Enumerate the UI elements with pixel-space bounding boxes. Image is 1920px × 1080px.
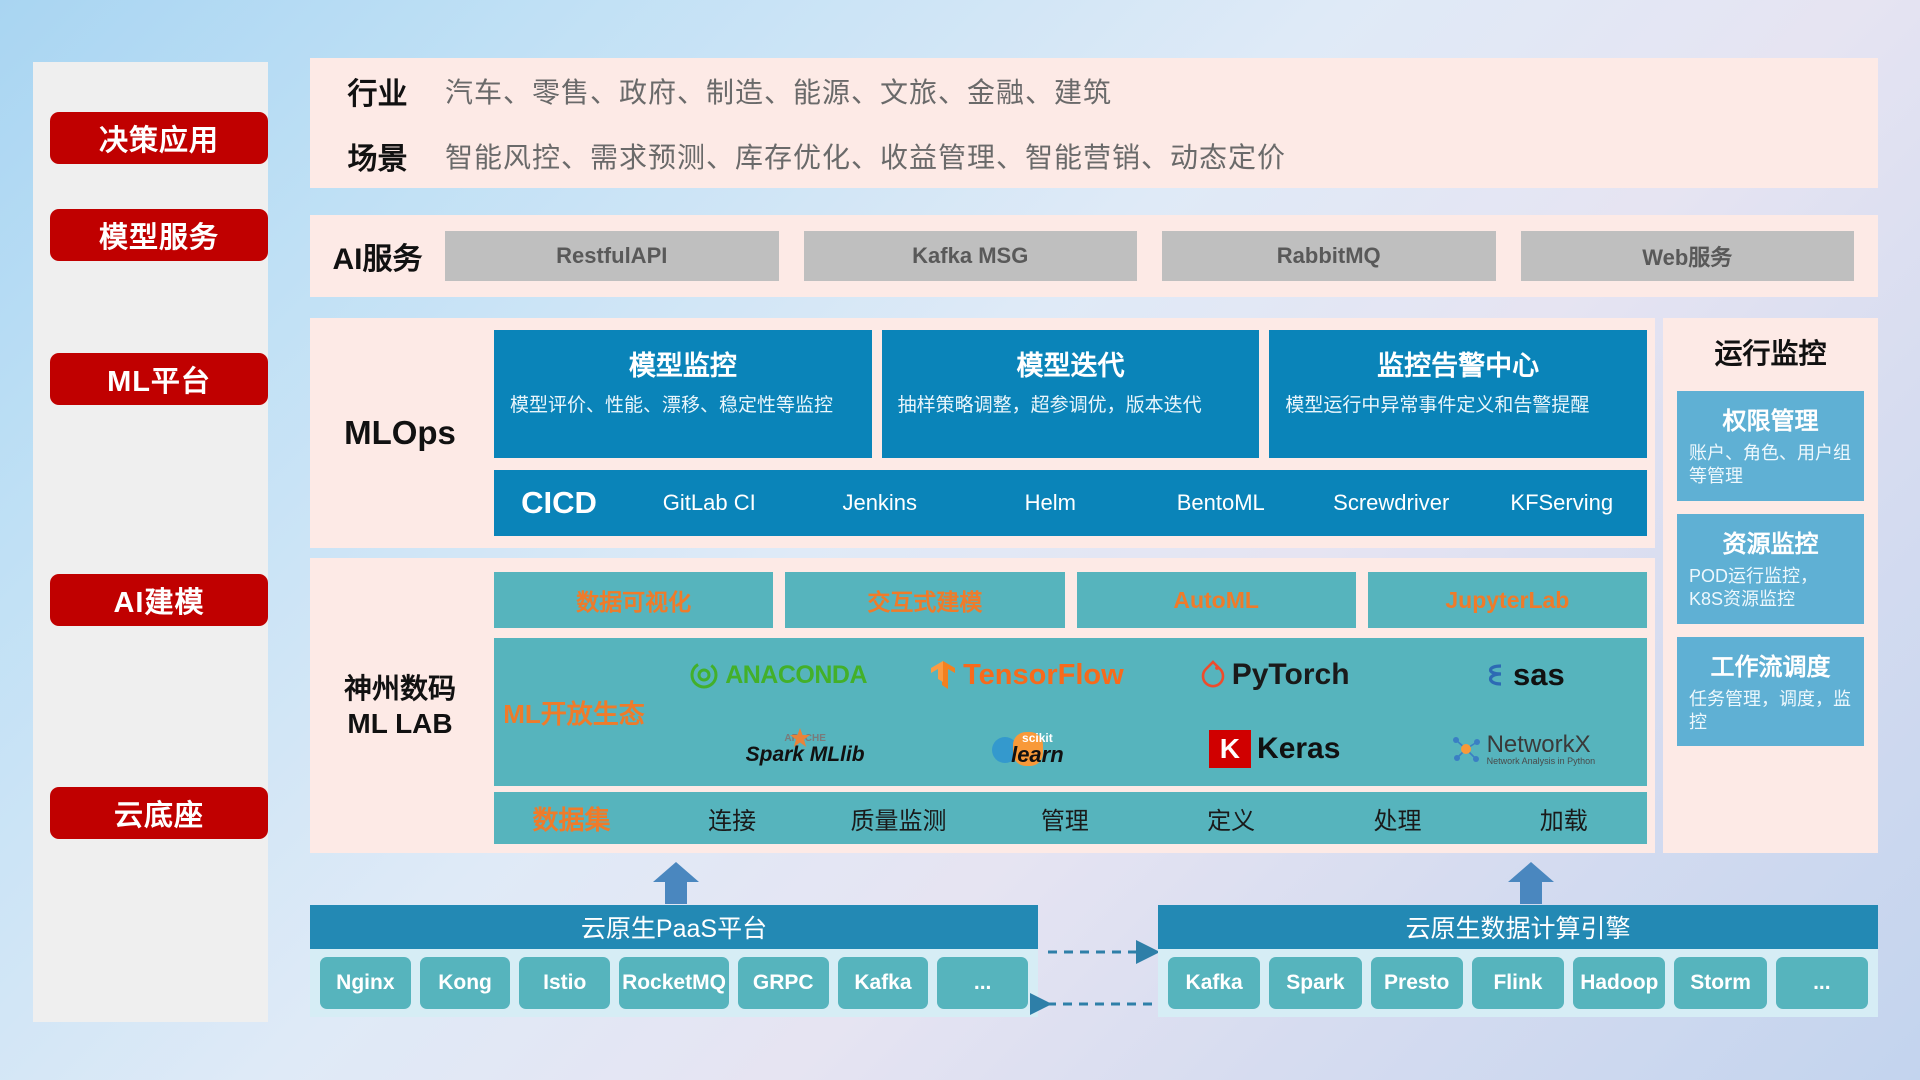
service-chip-restfulapi[interactable]: RestfulAPI — [445, 231, 779, 281]
spark-star-icon — [789, 727, 811, 749]
monitoring-card-permission[interactable]: 权限管理 账户、角色、用户组等管理 — [1677, 391, 1864, 501]
service-chip-rabbitmq[interactable]: RabbitMQ — [1162, 231, 1496, 281]
dataset-item-connect[interactable]: 连接 — [649, 801, 815, 836]
monitoring-card-workflow[interactable]: 工作流调度 任务管理，调度，监控 — [1677, 637, 1864, 747]
networkx-wordmark: NetworkX — [1487, 732, 1596, 757]
card-desc: POD运行监控，K8S资源监控 — [1689, 565, 1852, 612]
keras-mark-icon: K — [1209, 730, 1251, 768]
ai-service-chip-list: RestfulAPI Kafka MSG RabbitMQ Web服务 — [445, 231, 1878, 281]
card-title: 模型监控 — [510, 344, 856, 383]
card-desc: 任务管理，调度，监控 — [1689, 688, 1852, 735]
rail-item-decision-app[interactable]: 决策应用 — [50, 112, 268, 164]
dataset-title: 数据集 — [494, 800, 649, 837]
service-chip-web[interactable]: Web服务 — [1521, 231, 1855, 281]
sas-wordmark: sas — [1513, 657, 1565, 693]
up-arrow-paas-icon — [653, 862, 699, 904]
architecture-diagram: 决策应用 模型服务 ML平台 AI建模 云底座 行业 汽车、零售、政府、制造、能… — [0, 0, 1920, 1080]
card-title: 工作流调度 — [1689, 647, 1852, 682]
networkx-graph-icon — [1451, 734, 1481, 764]
ml-ecosystem-logo-grid: ANACONDA TensorFlow PyTorch — [654, 638, 1647, 786]
cicd-item-kfserving[interactable]: KFServing — [1477, 491, 1648, 514]
ml-lab-label-line2: ML LAB — [347, 706, 452, 741]
anaconda-wordmark: ANACONDA — [725, 661, 867, 690]
cicd-item-gitlab-ci[interactable]: GitLab CI — [624, 491, 795, 514]
runtime-monitoring-title: 运行监控 — [1663, 318, 1878, 378]
card-desc: 抽样策略调整，超参调优，版本迭代 — [898, 393, 1244, 419]
layer-rail: 决策应用 模型服务 ML平台 AI建模 云底座 — [33, 62, 268, 1022]
industry-scenario-panel: 行业 汽车、零售、政府、制造、能源、文旅、金融、建筑 场景 智能风控、需求预测、… — [310, 58, 1878, 188]
data-engine-chip-list: Kafka Spark Presto Flink Hadoop Storm ..… — [1158, 949, 1878, 1017]
service-chip-kafka-msg[interactable]: Kafka MSG — [804, 231, 1138, 281]
industry-values: 汽车、零售、政府、制造、能源、文旅、金融、建筑 — [445, 71, 1112, 111]
learn-label: learn — [1011, 744, 1064, 766]
ai-service-label: AI服务 — [310, 234, 445, 278]
paas-chip-istio[interactable]: Istio — [519, 957, 610, 1009]
pytorch-logo[interactable]: PyTorch — [1200, 658, 1350, 692]
card-title: 监控告警中心 — [1285, 344, 1631, 383]
ml-ecosystem-row: ML开放生态 ANACONDA TensorFlow — [494, 638, 1647, 786]
engine-chip-flink[interactable]: Flink — [1472, 957, 1564, 1009]
dataset-item-define[interactable]: 定义 — [1148, 801, 1314, 836]
card-desc: 账户、角色、用户组等管理 — [1689, 442, 1852, 489]
engine-chip-storm[interactable]: Storm — [1674, 957, 1766, 1009]
mlops-card-list: 模型监控 模型评价、性能、漂移、稳定性等监控 模型迭代 抽样策略调整，超参调优，… — [494, 330, 1647, 458]
paas-chip-kong[interactable]: Kong — [420, 957, 511, 1009]
monitoring-card-resource[interactable]: 资源监控 POD运行监控，K8S资源监控 — [1677, 514, 1864, 624]
networkx-tagline: Network Analysis in Python — [1487, 757, 1596, 766]
dataset-row: 数据集 连接 质量监测 管理 定义 处理 加载 — [494, 792, 1647, 844]
sas-logo[interactable]: sas — [1481, 657, 1565, 693]
bidirectional-connectors — [1030, 938, 1170, 1020]
engine-chip-more[interactable]: ... — [1776, 957, 1868, 1009]
cicd-item-bentoml[interactable]: BentoML — [1136, 491, 1307, 514]
tool-chip-jupyterlab[interactable]: JupyterLab — [1368, 572, 1647, 628]
keras-wordmark: Keras — [1257, 732, 1340, 766]
engine-chip-kafka[interactable]: Kafka — [1168, 957, 1260, 1009]
cicd-item-helm[interactable]: Helm — [965, 491, 1136, 514]
scenario-label: 场景 — [310, 134, 445, 178]
mlops-card-model-monitoring[interactable]: 模型监控 模型评价、性能、漂移、稳定性等监控 — [494, 330, 872, 458]
tool-chip-automl[interactable]: AutoML — [1077, 572, 1356, 628]
ai-modeling-panel: 神州数码 ML LAB 数据可视化 交互式建模 AutoML JupyterLa… — [310, 558, 1655, 853]
ml-ecosystem-title: ML开放生态 — [494, 694, 654, 731]
industry-label: 行业 — [310, 69, 445, 113]
engine-chip-hadoop[interactable]: Hadoop — [1573, 957, 1665, 1009]
keras-logo[interactable]: K Keras — [1209, 730, 1341, 768]
anaconda-mark-icon — [689, 660, 719, 690]
paas-stack-title: 云原生PaaS平台 — [310, 905, 1038, 949]
tensorflow-logo[interactable]: TensorFlow — [929, 659, 1124, 692]
runtime-monitoring-panel: 运行监控 权限管理 账户、角色、用户组等管理 资源监控 POD运行监控，K8S资… — [1663, 318, 1878, 853]
rail-item-ai-modeling[interactable]: AI建模 — [50, 574, 268, 626]
cicd-title: CICD — [494, 485, 624, 521]
mlops-card-alert-center[interactable]: 监控告警中心 模型运行中异常事件定义和告警提醒 — [1269, 330, 1647, 458]
ml-lab-label-line1: 神州数码 — [344, 671, 456, 706]
ai-service-panel: AI服务 RestfulAPI Kafka MSG RabbitMQ Web服务 — [310, 215, 1878, 297]
scenario-values: 智能风控、需求预测、库存优化、收益管理、智能营销、动态定价 — [445, 136, 1286, 176]
networkx-wordmark-group: NetworkX Network Analysis in Python — [1487, 732, 1596, 767]
industry-row: 行业 汽车、零售、政府、制造、能源、文旅、金融、建筑 — [310, 58, 1878, 123]
networkx-logo[interactable]: NetworkX Network Analysis in Python — [1451, 732, 1596, 767]
data-engine-stack: 云原生数据计算引擎 Kafka Spark Presto Flink Hadoo… — [1158, 905, 1878, 1017]
paas-chip-rocketmq[interactable]: RocketMQ — [619, 957, 729, 1009]
up-arrow-data-engine-icon — [1508, 862, 1554, 904]
paas-chip-nginx[interactable]: Nginx — [320, 957, 411, 1009]
pytorch-flame-icon — [1200, 660, 1226, 690]
rail-item-ml-platform[interactable]: ML平台 — [50, 353, 268, 405]
card-desc: 模型评价、性能、漂移、稳定性等监控 — [510, 393, 856, 419]
dataset-item-quality[interactable]: 质量监测 — [815, 801, 981, 836]
paas-chip-list: Nginx Kong Istio RocketMQ GRPC Kafka ... — [310, 949, 1038, 1017]
cicd-bar: CICD GitLab CI Jenkins Helm BentoML Scre… — [494, 470, 1647, 536]
paas-chip-kafka[interactable]: Kafka — [838, 957, 929, 1009]
tensorflow-wordmark: TensorFlow — [963, 659, 1124, 692]
data-engine-stack-title: 云原生数据计算引擎 — [1158, 905, 1878, 949]
mlops-panel: MLOps 模型监控 模型评价、性能、漂移、稳定性等监控 模型迭代 抽样策略调整… — [310, 318, 1655, 548]
dataset-item-manage[interactable]: 管理 — [982, 801, 1148, 836]
dataset-item-process[interactable]: 处理 — [1314, 801, 1480, 836]
engine-chip-spark[interactable]: Spark — [1269, 957, 1361, 1009]
engine-chip-presto[interactable]: Presto — [1371, 957, 1463, 1009]
spark-mllib-logo[interactable]: APACHE Spark MLlib — [746, 734, 811, 765]
scikit-wordmark-group: scikit learn — [1011, 732, 1064, 766]
rail-item-model-service[interactable]: 模型服务 — [50, 209, 268, 261]
rail-item-cloud-base[interactable]: 云底座 — [50, 787, 268, 839]
tool-chip-interactive-modeling[interactable]: 交互式建模 — [785, 572, 1064, 628]
anaconda-logo[interactable]: ANACONDA — [689, 660, 867, 690]
tool-chip-data-visualization[interactable]: 数据可视化 — [494, 572, 773, 628]
dataset-item-load[interactable]: 加载 — [1481, 801, 1647, 836]
paas-stack: 云原生PaaS平台 Nginx Kong Istio RocketMQ GRPC… — [310, 905, 1038, 1017]
scikit-learn-logo[interactable]: scikit learn — [989, 728, 1064, 770]
cicd-item-jenkins[interactable]: Jenkins — [795, 491, 966, 514]
cicd-item-screwdriver[interactable]: Screwdriver — [1306, 491, 1477, 514]
card-title: 资源监控 — [1689, 524, 1852, 559]
card-desc: 模型运行中异常事件定义和告警提醒 — [1285, 393, 1631, 419]
paas-chip-grpc[interactable]: GRPC — [738, 957, 829, 1009]
paas-chip-more[interactable]: ... — [937, 957, 1028, 1009]
pytorch-wordmark: PyTorch — [1232, 658, 1350, 692]
sas-mark-icon — [1481, 661, 1507, 689]
scenario-row: 场景 智能风控、需求预测、库存优化、收益管理、智能营销、动态定价 — [310, 123, 1878, 188]
mlops-label: MLOps — [310, 318, 490, 548]
card-title: 权限管理 — [1689, 401, 1852, 436]
mlops-card-model-iteration[interactable]: 模型迭代 抽样策略调整，超参调优，版本迭代 — [882, 330, 1260, 458]
card-title: 模型迭代 — [898, 344, 1244, 383]
tensorflow-mark-icon — [929, 659, 957, 691]
modeling-tool-list: 数据可视化 交互式建模 AutoML JupyterLab — [494, 572, 1647, 628]
ml-lab-label: 神州数码 ML LAB — [310, 558, 490, 853]
